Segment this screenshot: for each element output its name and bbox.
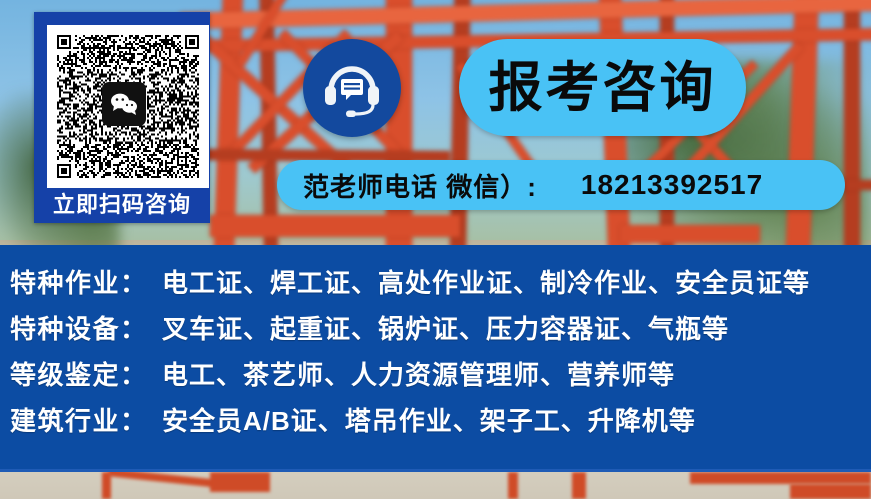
crane-base xyxy=(572,472,586,499)
contact-label: 范老师电话 微信）: xyxy=(303,167,537,204)
category-row-special-equipment: 特种设备： 叉车证、起重证、锅炉证、压力容器证、气瓶等 xyxy=(10,309,871,355)
advertisement-poster: 立即扫码咨询 报考咨询 范老师电话 微信）: 18213392517 xyxy=(0,0,871,499)
contact-phone-number[interactable]: 18213392517 xyxy=(581,169,763,201)
crane-base xyxy=(690,472,871,484)
category-row-special-operations: 特种作业： 电工证、焊工证、高处作业证、制冷作业、安全员证等 xyxy=(10,263,871,309)
contact-phone-pill[interactable]: 范老师电话 微信）: 18213392517 xyxy=(277,160,845,210)
category-items: 安全员A/B证、塔吊作业、架子工、升降机等 xyxy=(162,401,696,438)
category-row-construction-industry: 建筑行业： 安全员A/B证、塔吊作业、架子工、升降机等 xyxy=(10,401,871,447)
category-row-skill-grading: 等级鉴定： 电工、茶艺师、人力资源管理师、营养师等 xyxy=(10,355,871,401)
category-items: 叉车证、起重证、锅炉证、压力容器证、气瓶等 xyxy=(162,309,729,346)
panel-bottom-divider xyxy=(0,469,871,472)
category-label: 特种作业： xyxy=(10,263,162,300)
headset-support-icon[interactable] xyxy=(303,39,401,137)
consultation-title-pill[interactable]: 报考咨询 xyxy=(459,39,746,136)
qr-code-canvas[interactable] xyxy=(47,25,209,188)
category-items: 电工、茶艺师、人力资源管理师、营养师等 xyxy=(162,355,675,392)
certificate-categories-panel: 特种作业： 电工证、焊工证、高处作业证、制冷作业、安全员证等 特种设备： 叉车证… xyxy=(0,245,871,471)
qr-card-label: 立即扫码咨询 xyxy=(40,194,204,216)
category-items: 电工证、焊工证、高处作业证、制冷作业、安全员证等 xyxy=(162,263,810,300)
category-label: 等级鉴定： xyxy=(10,355,162,392)
crane-base xyxy=(790,484,871,499)
category-label: 特种设备： xyxy=(10,309,162,346)
qr-code-card[interactable]: 立即扫码咨询 xyxy=(34,12,210,223)
wechat-icon xyxy=(102,82,146,126)
crane-base xyxy=(210,472,270,492)
crane-base xyxy=(508,472,518,499)
category-label: 建筑行业： xyxy=(10,401,162,438)
consultation-title-text: 报考咨询 xyxy=(489,61,717,115)
